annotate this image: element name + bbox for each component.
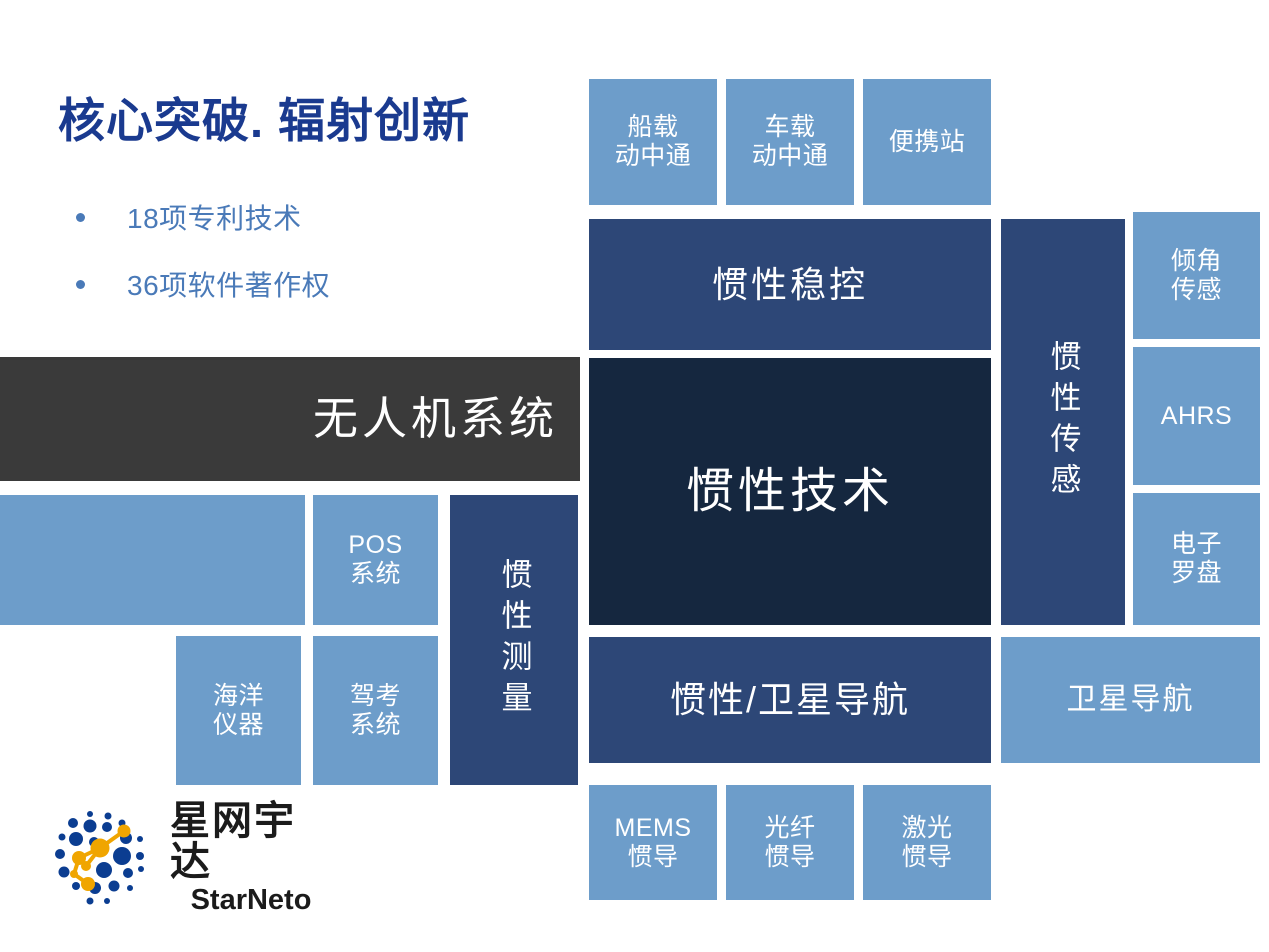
block-electronic-compass[interactable]: 电子 罗盘 [1133, 493, 1260, 625]
bullet-dot-icon [76, 280, 85, 289]
slide-canvas: 核心突破. 辐射创新 18项专利技术 36项软件著作权 无人机系统 POS 系统… [0, 0, 1269, 952]
block-inertial-satellite-navigation[interactable]: 惯性/卫星导航 [589, 637, 991, 763]
block-shipborne-satcom-on-the-move[interactable]: 船载 动中通 [589, 79, 717, 205]
bullet-item-patents: 18项专利技术 [76, 197, 302, 237]
block-blank[interactable] [0, 495, 305, 625]
block-vehicle-satcom-on-the-move[interactable]: 车载 动中通 [726, 79, 854, 205]
block-mems-ins[interactable]: MEMS 惯导 [589, 785, 717, 900]
logo-english-name: StarNeto [191, 885, 312, 915]
logo-wordmark: 星网宇达 StarNeto [170, 801, 332, 915]
block-uav-system[interactable]: 无人机系统 [0, 357, 580, 481]
page-title: 核心突破. 辐射创新 [58, 82, 470, 151]
block-ahrs[interactable]: AHRS [1133, 347, 1260, 485]
block-driving-test-system[interactable]: 驾考 系统 [313, 636, 438, 785]
block-tilt-sensor[interactable]: 倾角 传感 [1133, 212, 1260, 339]
block-ocean-instrument[interactable]: 海洋 仪器 [176, 636, 301, 785]
block-satellite-navigation[interactable]: 卫星导航 [1001, 637, 1260, 763]
bullet-label: 36项软件著作权 [127, 264, 330, 304]
bullet-label: 18项专利技术 [127, 197, 302, 237]
bullet-item-software-copyrights: 36项软件著作权 [76, 264, 330, 304]
block-label-vertical: 惯性测量 [499, 558, 530, 722]
block-fiber-optic-ins[interactable]: 光纤 惯导 [726, 785, 854, 900]
block-inertial-stabilization[interactable]: 惯性稳控 [589, 219, 991, 350]
block-laser-ins[interactable]: 激光 惯导 [863, 785, 991, 900]
block-inertial-technology[interactable]: 惯性技术 [589, 358, 991, 625]
block-label-vertical: 惯性传感 [1048, 340, 1079, 504]
company-logo: 星网宇达 StarNeto [52, 802, 332, 914]
block-inertial-measurement[interactable]: 惯性测量 [450, 495, 578, 785]
bullet-dot-icon [76, 213, 85, 222]
starneto-dot-cluster-icon [52, 806, 156, 910]
block-pos-system[interactable]: POS 系统 [313, 495, 438, 625]
block-portable-station[interactable]: 便携站 [863, 79, 991, 205]
block-inertial-sensing[interactable]: 惯性传感 [1001, 219, 1125, 625]
logo-chinese-name: 星网宇达 [170, 801, 332, 884]
